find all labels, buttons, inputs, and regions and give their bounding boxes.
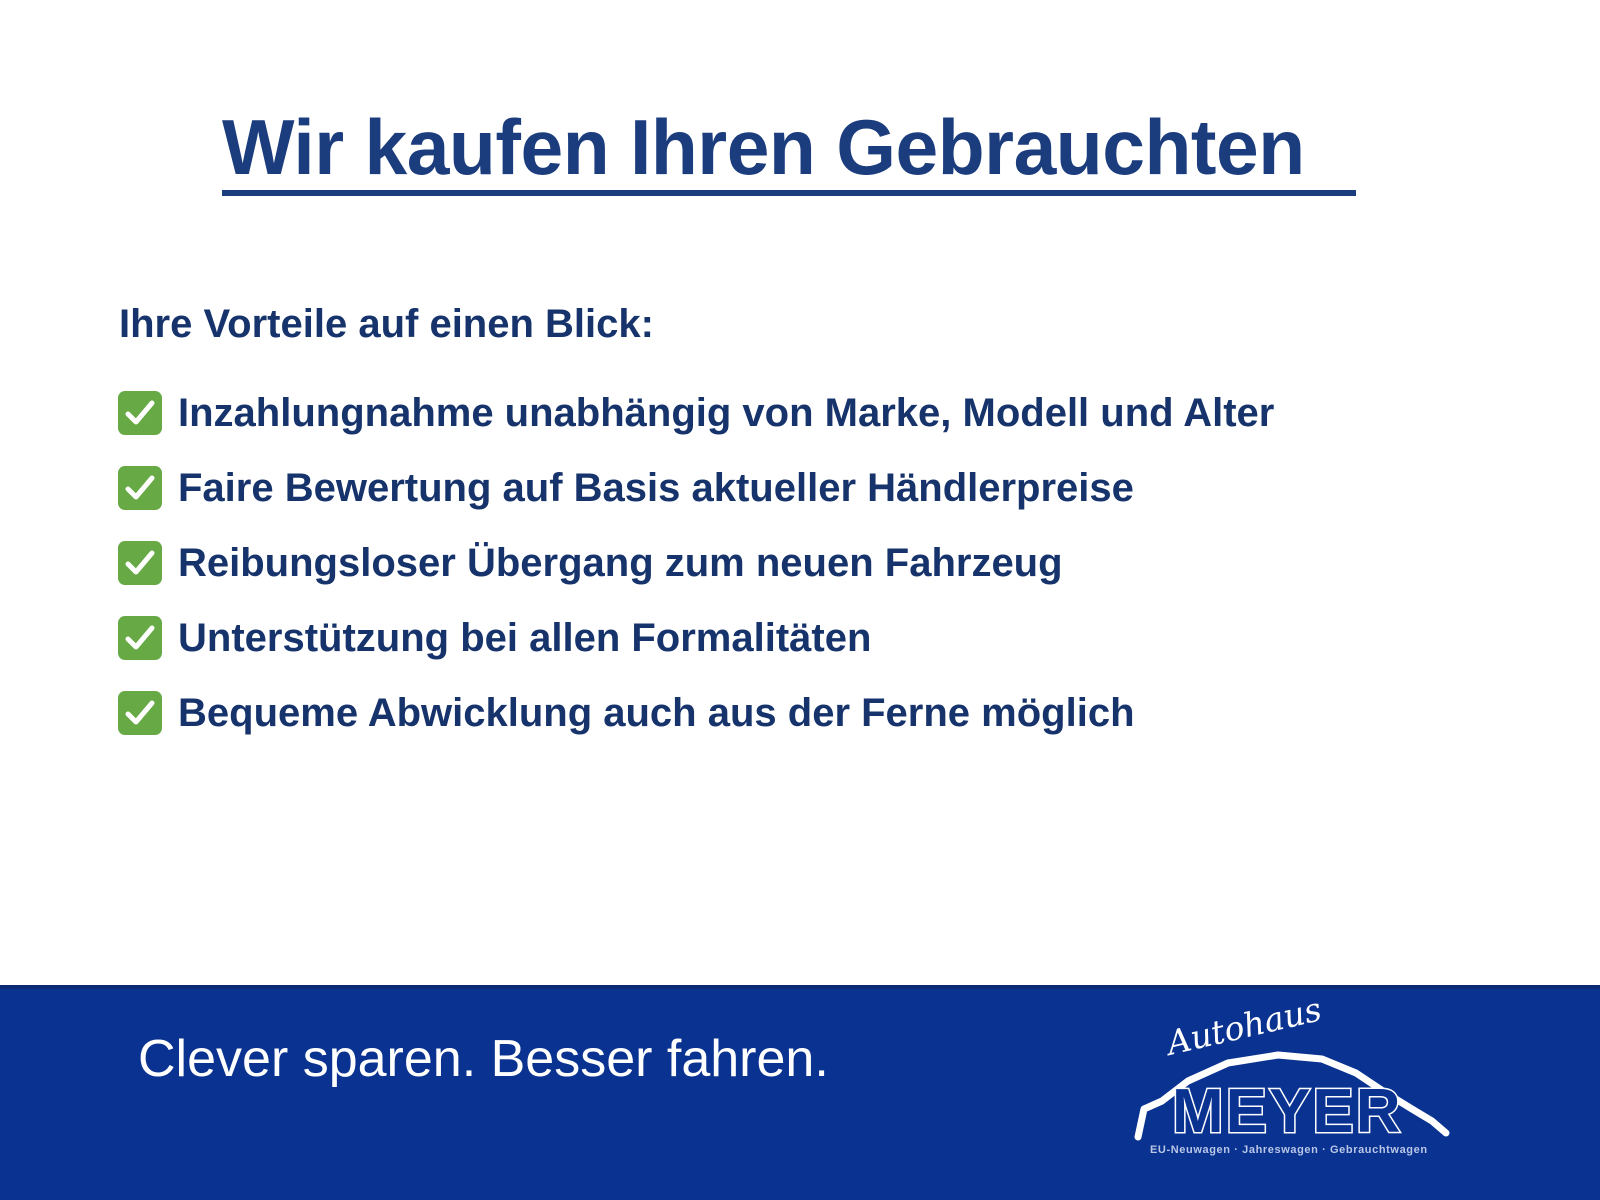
check-square-icon — [118, 541, 162, 585]
list-item-label: Faire Bewertung auf Basis aktueller Händ… — [178, 465, 1134, 511]
footer-tagline: Clever sparen. Besser fahren. — [138, 1028, 829, 1090]
check-square-icon — [118, 466, 162, 510]
logo-script-word: Autohaus — [1160, 997, 1325, 1063]
dealer-logo: Autohaus MEYER EU-Neuwagen · Jahreswagen… — [1110, 997, 1470, 1167]
benefits-list: Inzahlungnahme unabhängig von Marke, Mod… — [118, 375, 1518, 750]
check-square-icon — [118, 391, 162, 435]
list-item-label: Bequeme Abwicklung auch aus der Ferne mö… — [178, 690, 1135, 736]
list-item: Inzahlungnahme unabhängig von Marke, Mod… — [118, 375, 1518, 450]
logo-subtitle: EU-Neuwagen · Jahreswagen · Gebrauchtwag… — [1150, 1144, 1428, 1156]
logo-main-word: MEYER — [1172, 1077, 1402, 1146]
list-item: Faire Bewertung auf Basis aktueller Händ… — [118, 450, 1518, 525]
benefits-subheading: Ihre Vorteile auf einen Blick: — [119, 300, 654, 348]
check-square-icon — [118, 616, 162, 660]
list-item-label: Inzahlungnahme unabhängig von Marke, Mod… — [178, 390, 1274, 436]
footer-band-divider — [0, 985, 1600, 989]
list-item: Unterstützung bei allen Formalitäten — [118, 600, 1518, 675]
headline-underline — [222, 190, 1356, 196]
list-item: Reibungsloser Übergang zum neuen Fahrzeu… — [118, 525, 1518, 600]
list-item-label: Unterstützung bei allen Formalitäten — [178, 615, 871, 661]
list-item-label: Reibungsloser Übergang zum neuen Fahrzeu… — [178, 540, 1063, 586]
list-item: Bequeme Abwicklung auch aus der Ferne mö… — [118, 675, 1518, 750]
advertisement-page: Wir kaufen Ihren Gebrauchten Ihre Vortei… — [0, 0, 1600, 1200]
footer-band: Clever sparen. Besser fahren. Autohaus M… — [0, 985, 1600, 1200]
page-title: Wir kaufen Ihren Gebrauchten — [222, 104, 1345, 190]
headline-block: Wir kaufen Ihren Gebrauchten — [222, 104, 1362, 190]
check-square-icon — [118, 691, 162, 735]
